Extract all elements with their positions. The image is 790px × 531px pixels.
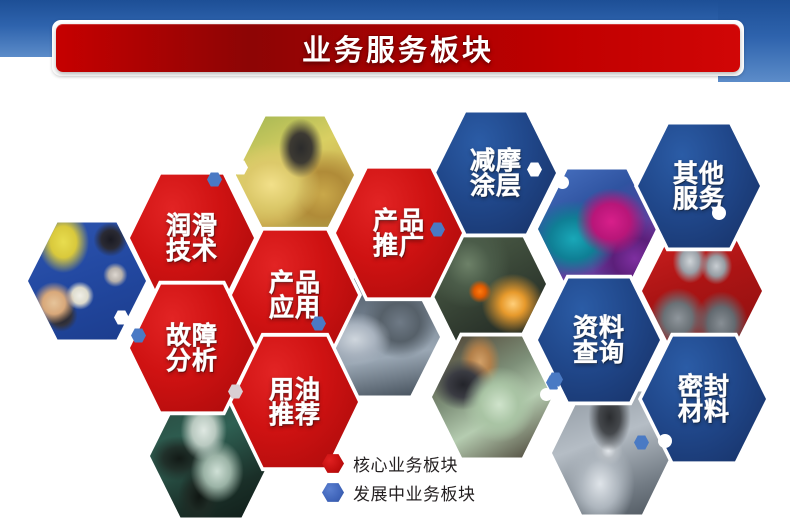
stud-icon [540, 388, 553, 401]
legend-item-core: 核心业务板块 [322, 449, 476, 478]
legend-label-core: 核心业务板块 [353, 451, 458, 476]
page-title: 业务服务板块 [302, 27, 494, 69]
legend-hexagon-blue-icon [322, 483, 344, 503]
stud-icon [658, 434, 672, 448]
stud-icon [556, 176, 569, 189]
hex-label-antifriction-coating: 减摩 涂层 [470, 148, 522, 199]
hex-label-fault-analysis: 故障 分析 [166, 323, 218, 374]
legend: 核心业务板块 发展中业务板块 [322, 449, 476, 507]
title-banner: 业务服务板块 [56, 24, 740, 72]
business-service-infographic: 业务服务板块 [0, 0, 790, 531]
hex-label-product-promotion: 产品 推广 [373, 208, 425, 259]
hex-label-data-query: 资料 查询 [573, 315, 625, 366]
legend-item-developing: 发展中业务板块 [322, 478, 476, 507]
legend-label-developing: 发展中业务板块 [353, 480, 476, 505]
hex-label-sealing-materials: 密封 材料 [678, 374, 730, 425]
hex-label-other-services: 其他 服务 [673, 161, 725, 212]
legend-hexagon-red-icon [322, 454, 344, 474]
hex-label-oil-recommendation: 用油 推荐 [269, 377, 321, 428]
hex-label-product-application: 产品 应用 [269, 270, 321, 321]
stud-icon [712, 206, 726, 220]
hex-label-lubrication-technology: 润滑 技术 [166, 213, 218, 264]
